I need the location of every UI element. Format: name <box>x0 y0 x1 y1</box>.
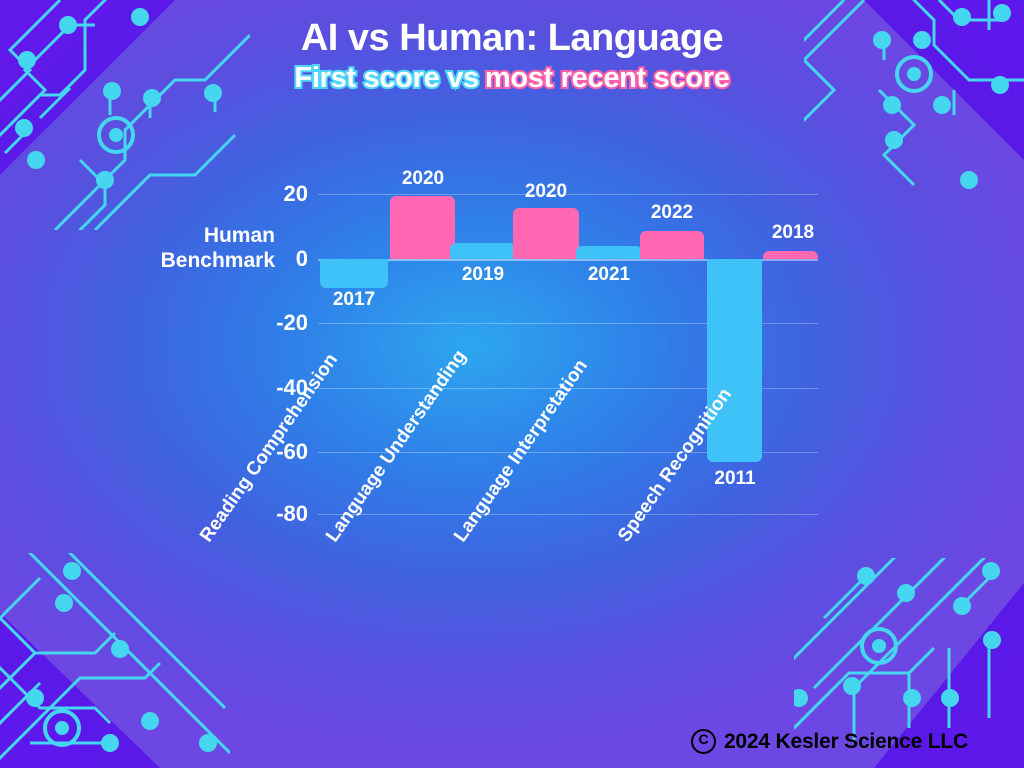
chart-canvas: AI vs Human: Language First score vsmost… <box>0 0 1024 768</box>
copyright-icon: C <box>691 729 716 754</box>
bar-label-recent-score-2: 2022 <box>627 202 717 224</box>
subtitle-first-score: First score vs <box>294 62 478 94</box>
bar-label-first-score-0: 2017 <box>315 289 393 311</box>
x-axis-label-1: Language Understanding <box>322 346 471 546</box>
bar-label-first-score-2: 2021 <box>564 264 654 286</box>
y-axis-title-line1: Human <box>204 224 275 247</box>
x-axis-label-3: Speech Recognition <box>614 384 737 546</box>
bar-label-recent-score-0: 2020 <box>378 168 468 190</box>
bar-recent-score-2[interactable] <box>640 231 704 259</box>
subtitle-recent-score: most recent score <box>485 62 730 94</box>
y-tick-label-5: -80 <box>238 501 308 527</box>
bar-label-recent-score-3: 2018 <box>748 222 838 244</box>
bar-first-score-3[interactable] <box>707 259 762 462</box>
bar-first-score-0[interactable] <box>320 259 388 288</box>
title-block: AI vs Human: Language First score vsmost… <box>0 18 1024 95</box>
page-title: AI vs Human: Language <box>0 18 1024 59</box>
bar-first-score-2[interactable] <box>576 246 642 259</box>
y-tick-label-1: 0 <box>238 246 308 272</box>
bar-label-recent-score-1: 2020 <box>501 181 591 203</box>
subtitle: First score vsmost recent score <box>0 63 1024 95</box>
y-tick-label-2: -20 <box>238 310 308 336</box>
footer-attribution: C 2024 Kesler Science LLC <box>691 729 968 754</box>
bar-recent-score-3[interactable] <box>763 251 818 259</box>
footer-text: 2024 Kesler Science LLC <box>724 730 968 754</box>
bar-label-first-score-1: 2019 <box>438 264 528 286</box>
gridline-neg80 <box>318 514 818 515</box>
bar-recent-score-0[interactable] <box>390 196 455 259</box>
bar-recent-score-1[interactable] <box>513 208 579 259</box>
y-tick-label-0: 20 <box>238 181 308 207</box>
bar-label-first-score-3: 2011 <box>690 468 780 490</box>
bar-chart: Human Benchmark 20 0 -20 -40 -60 -80 201… <box>0 0 1024 768</box>
bar-first-score-1[interactable] <box>450 243 516 259</box>
